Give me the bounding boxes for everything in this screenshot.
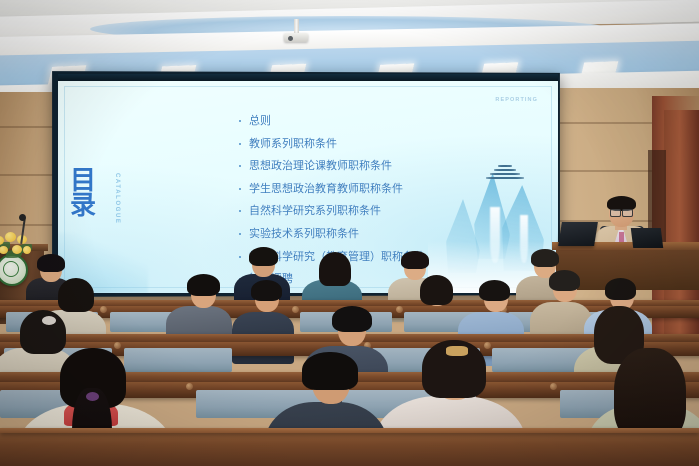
flower bbox=[5, 232, 16, 242]
room-interior: 目 录 CATALOGUE REPORTING 总则 教师系列职称条件 思想政治… bbox=[0, 0, 699, 466]
hair-tie bbox=[86, 392, 99, 401]
hair-tie bbox=[42, 316, 56, 325]
toc-item: 社会科学研究（教育管理）职称条件 bbox=[238, 251, 538, 263]
toc-item: 自然科学研究系列职称条件 bbox=[238, 205, 538, 217]
projector-lens-icon bbox=[288, 36, 293, 41]
slide-table-of-contents: 总则 教师系列职称条件 思想政治理论课教师职称条件 学生思想政治教育教师职称条件… bbox=[198, 115, 538, 293]
emblem-inner-ring bbox=[3, 261, 19, 277]
microphone-icon bbox=[19, 214, 26, 221]
screen-top-bezel bbox=[58, 74, 558, 81]
slide-title-cn: 目 录 bbox=[70, 169, 116, 219]
wall-seam bbox=[560, 170, 658, 172]
slide-title-char-2: 录 bbox=[70, 194, 116, 219]
desk-edge-highlight bbox=[0, 428, 699, 433]
toc-item: 教师系列职称条件 bbox=[238, 138, 538, 150]
slide-corner-label: REPORTING bbox=[495, 97, 538, 103]
bench-knob bbox=[484, 342, 491, 349]
hair-clip bbox=[446, 346, 468, 356]
toc-item: 思想政治理论课教师职称条件 bbox=[238, 160, 538, 172]
desk-row-foreground bbox=[0, 430, 699, 466]
toc-item: 实验技术系列职称条件 bbox=[238, 228, 538, 240]
bench-knob bbox=[550, 383, 557, 390]
slide-subtitle-en: CATALOGUE bbox=[114, 173, 120, 225]
flower bbox=[12, 245, 22, 254]
speaker-glasses-icon bbox=[622, 209, 633, 217]
bench-knob bbox=[114, 342, 121, 349]
bench-knob bbox=[292, 306, 299, 313]
bench-knob bbox=[186, 383, 193, 390]
seat-cushion bbox=[124, 348, 232, 372]
speaker-glasses-icon bbox=[610, 209, 621, 217]
toc-item: 学生思想政治教育教师职称条件 bbox=[238, 183, 538, 195]
presentation-slide: 目 录 CATALOGUE REPORTING 总则 教师系列职称条件 思想政治… bbox=[58, 81, 558, 293]
lecture-hall-photo: 目 录 CATALOGUE REPORTING 总则 教师系列职称条件 思想政治… bbox=[0, 0, 699, 466]
laptop-icon bbox=[558, 222, 598, 246]
bench-knob bbox=[396, 306, 403, 313]
wall-seam bbox=[560, 122, 658, 124]
toc-item: 总则 bbox=[238, 115, 538, 127]
flower bbox=[23, 246, 31, 254]
laptop-icon bbox=[631, 228, 663, 248]
bench-knob bbox=[100, 306, 107, 313]
